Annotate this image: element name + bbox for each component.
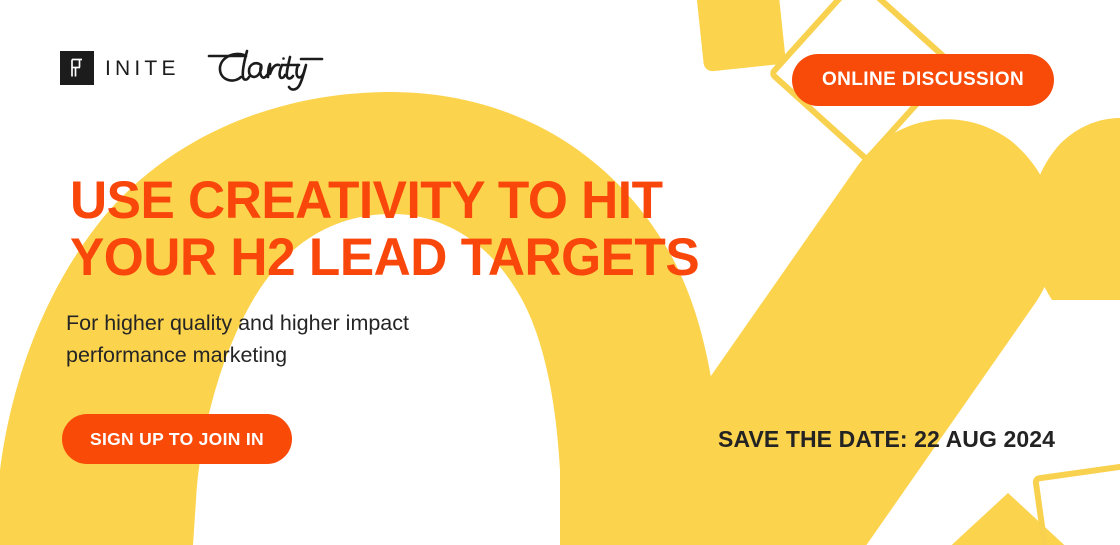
promo-banner: INITE [0,0,1120,545]
online-discussion-badge[interactable]: ONLINE DISCUSSION [792,54,1054,106]
finite-logo[interactable]: INITE [60,51,180,85]
subheading: For higher quality and higher impact per… [66,307,409,372]
sign-up-button[interactable]: SIGN UP TO JOIN IN [62,414,292,464]
finite-f-mark [60,51,94,85]
brand-logo-row: INITE [60,44,324,92]
sign-up-button-label: SIGN UP TO JOIN IN [90,429,264,450]
headline: USE CREATIVITY TO HIT YOUR H2 LEAD TARGE… [70,172,699,286]
badge-label: ONLINE DISCUSSION [822,69,1024,91]
save-the-date-text: SAVE THE DATE: 22 AUG 2024 [718,426,1055,453]
finite-wordmark: INITE [105,58,180,79]
clarity-script-logo[interactable] [206,44,324,92]
content-layer: INITE [0,0,1120,545]
